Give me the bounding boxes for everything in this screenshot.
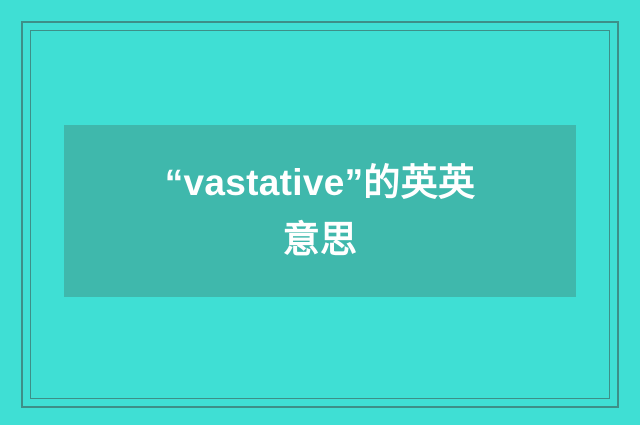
title-panel: “vastative”的英英意思 bbox=[64, 125, 576, 297]
text-card: “vastative”的英英意思 bbox=[0, 0, 640, 425]
page-title: “vastative”的英英意思 bbox=[155, 154, 485, 269]
